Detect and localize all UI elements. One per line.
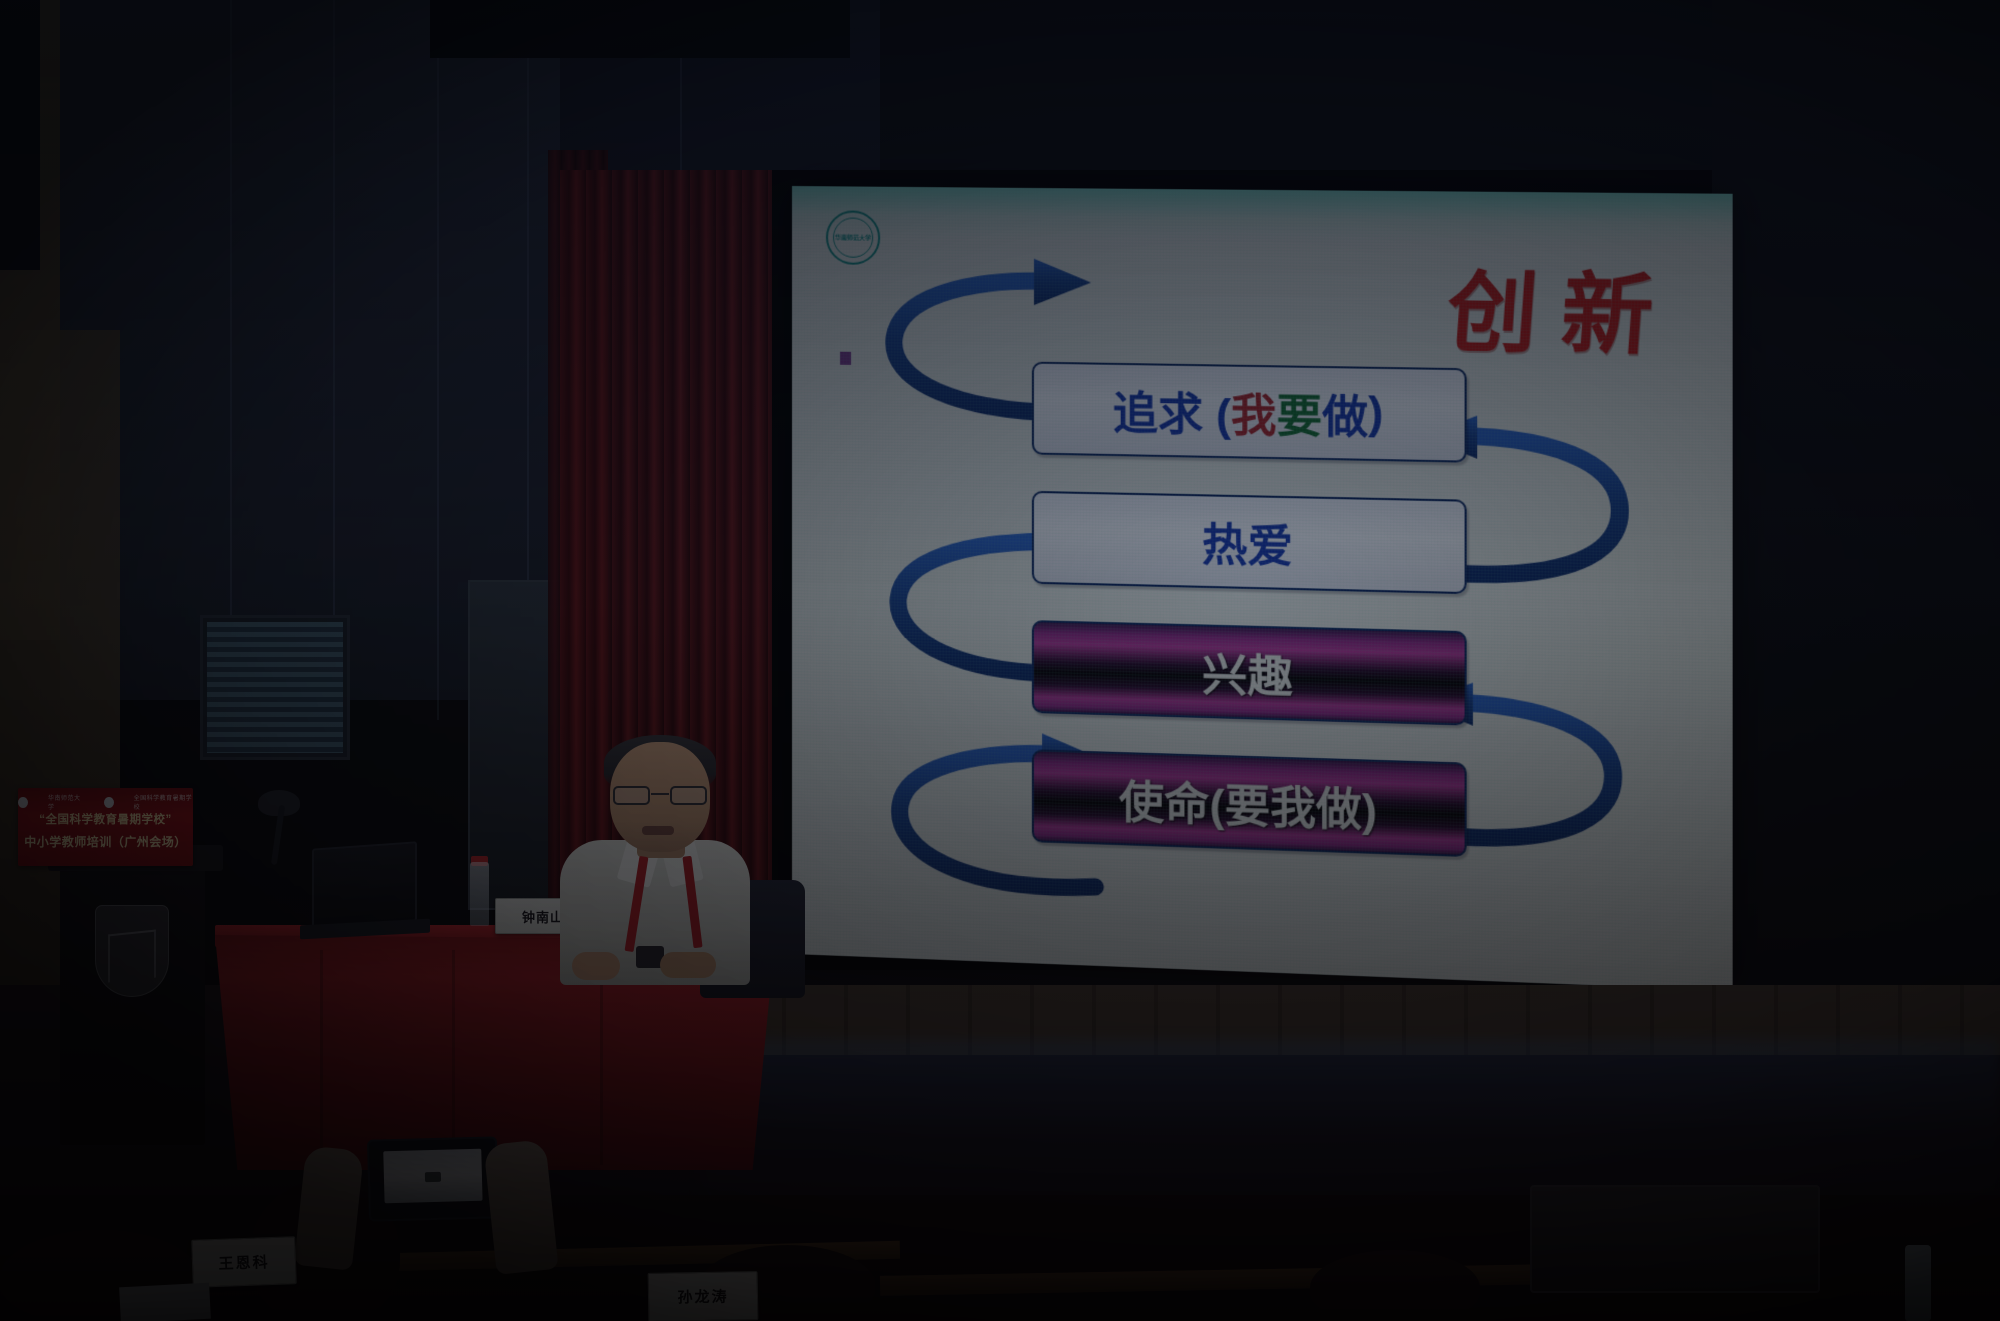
slide-title: 创新 bbox=[1443, 241, 1681, 373]
speaker-glasses-icon bbox=[612, 786, 708, 806]
flow-box-pursuit-seg-4: ) bbox=[1368, 388, 1383, 439]
lecture-hall-photo: 华南师范大学 创新 bbox=[0, 0, 2000, 1321]
flow-box-pursuit-seg-0: 追求 ( bbox=[1113, 377, 1231, 444]
audience-head bbox=[1310, 1250, 1480, 1321]
flow-box-passion: 热爱 bbox=[1032, 491, 1467, 594]
banner-logo-row: 华南师范大学 全国科学教育暑期学校 bbox=[18, 793, 193, 811]
banner-logo-right-icon bbox=[104, 797, 114, 808]
audience-nameplate-left: 王恩科 bbox=[191, 1236, 297, 1288]
slide-top-accent-band bbox=[792, 186, 1733, 248]
university-crest-icon bbox=[95, 905, 169, 997]
window-blinds bbox=[207, 622, 343, 753]
flow-box-pursuit: 追求 (我要做) bbox=[1032, 362, 1467, 463]
flow-box-mission: 使命(要我做) bbox=[1032, 749, 1467, 857]
banner-logo-left-label: 华南师范大学 bbox=[48, 793, 84, 811]
phone-viewfinder bbox=[383, 1149, 482, 1204]
glasses-lens-left bbox=[613, 786, 650, 805]
university-seal-icon: 华南师范大学 bbox=[826, 210, 880, 265]
water-bottle bbox=[470, 862, 489, 926]
speaker-mouth bbox=[642, 826, 674, 835]
wall-slat bbox=[437, 0, 439, 720]
flow-box-pursuit-seg-2: 要 bbox=[1277, 380, 1323, 446]
laptop-screen bbox=[312, 841, 417, 928]
table-cloth-fold bbox=[452, 950, 455, 1165]
foreground-water-bottle bbox=[1905, 1245, 1931, 1321]
banner-line-1: “全国科学教育暑期学校” bbox=[18, 811, 193, 827]
stage-loudspeaker bbox=[1530, 1185, 1820, 1293]
podium-banner: 华南师范大学 全国科学教育暑期学校 “全国科学教育暑期学校” 中小学教师培训（广… bbox=[18, 788, 193, 866]
banner-line-2: 中小学教师培训（广州会场） bbox=[18, 833, 193, 850]
wall-slat bbox=[333, 0, 335, 720]
flow-box-mission-label: 使命(要我做) bbox=[1119, 766, 1377, 840]
audience-nameplate-right: 孙龙涛 bbox=[648, 1271, 759, 1321]
wall-slat bbox=[230, 0, 232, 720]
banner-logo-right-label: 全国科学教育暑期学校 bbox=[134, 793, 193, 811]
glasses-bridge bbox=[651, 793, 669, 795]
ceiling-dark-left bbox=[0, 0, 40, 270]
right-wall-dark bbox=[1712, 0, 2000, 1010]
flow-box-interest-label: 兴趣 bbox=[1202, 639, 1293, 707]
flow-box-pursuit-seg-1: 我 bbox=[1231, 379, 1277, 445]
smartphone-camera[interactable] bbox=[367, 1136, 499, 1221]
flow-box-interest: 兴趣 bbox=[1032, 620, 1467, 726]
audience-paper bbox=[119, 1283, 211, 1321]
table-cloth-fold bbox=[320, 950, 323, 1165]
banner-logo-left-icon bbox=[18, 797, 28, 808]
speaker-hand-right bbox=[660, 952, 716, 978]
slide-logo-text: 华南师范大学 bbox=[835, 234, 871, 240]
glasses-lens-right bbox=[670, 786, 707, 805]
flow-box-passion-label: 热爱 bbox=[1202, 509, 1293, 576]
speaker-hand-left bbox=[572, 952, 620, 980]
ceiling-beam bbox=[430, 0, 850, 58]
slide-bullet-marker bbox=[840, 352, 851, 365]
projection-screen: 华南师范大学 创新 bbox=[792, 186, 1733, 991]
flow-box-pursuit-seg-3: 做 bbox=[1322, 380, 1368, 446]
